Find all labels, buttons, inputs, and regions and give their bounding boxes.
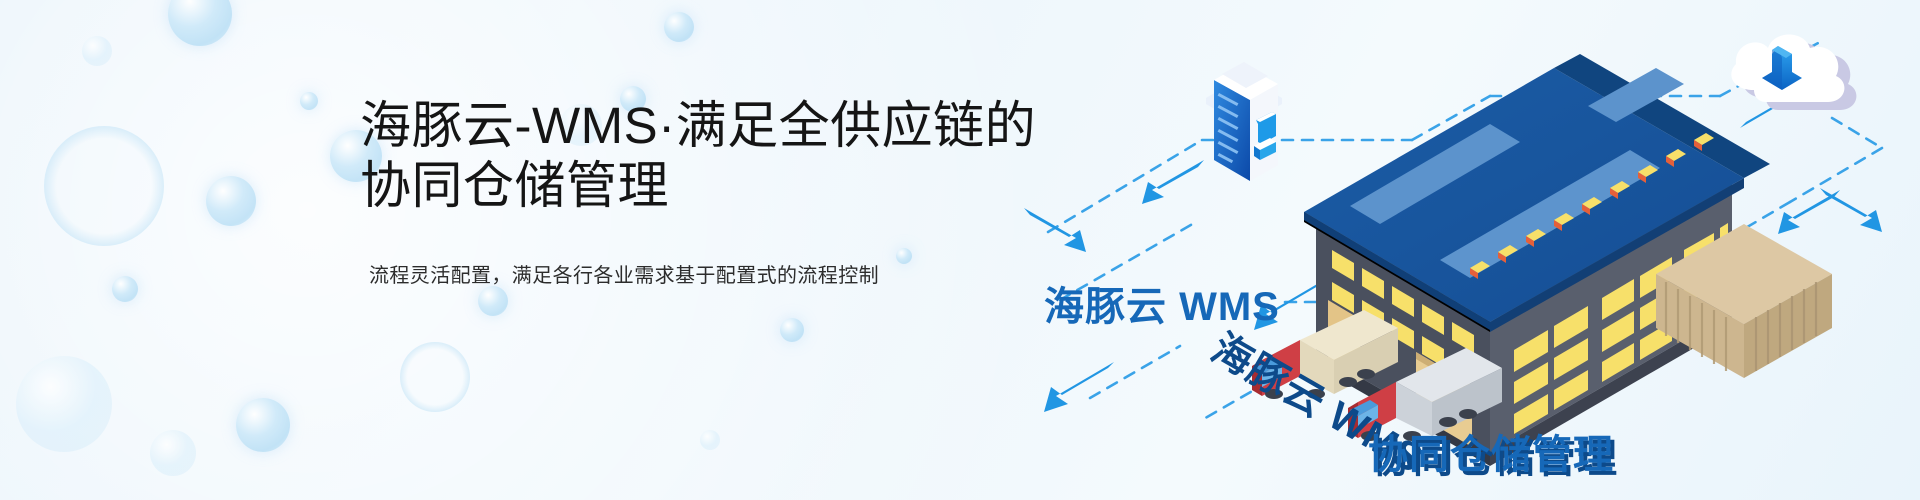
svg-text:海豚云 WMS: 海豚云 WMS xyxy=(1044,285,1280,329)
bubble-11 xyxy=(478,286,508,316)
bubble-1 xyxy=(82,36,112,66)
warehouse-illustration: 海豚云 WMS 海豚云 WMS 协同仓储管理 协同仓储管理 xyxy=(1020,0,1920,500)
bubble-10 xyxy=(664,12,694,42)
bubble-0 xyxy=(168,0,232,46)
bubble-3 xyxy=(206,176,256,226)
bubble-5 xyxy=(16,356,112,452)
page-subtitle: 流程灵活配置，满足各行各业需求基于配置式的流程控制 xyxy=(369,259,1120,288)
bubble-16 xyxy=(150,430,196,476)
page-title-line-2: 协同仓储管理 xyxy=(360,156,1120,216)
bubble-2 xyxy=(300,92,318,110)
iso-label-tagline: 协同仓储管理 协同仓储管理 xyxy=(1368,433,1618,481)
bubble-14 xyxy=(44,126,164,246)
server-rack-icon xyxy=(1206,62,1282,181)
bubble-15 xyxy=(400,342,470,412)
hero-copy: 海豚云-WMS·满足全供应链的 协同仓储管理 流程灵活配置，满足各行各业需求基于… xyxy=(360,96,1120,288)
page-title-line-1: 海豚云-WMS·满足全供应链的 xyxy=(360,96,1120,156)
cloud-download-icon xyxy=(1731,35,1856,111)
hero-banner: 海豚云-WMS·满足全供应链的 协同仓储管理 流程灵活配置，满足各行各业需求基于… xyxy=(0,0,1920,500)
bubble-4 xyxy=(112,276,138,302)
bubble-12 xyxy=(780,318,804,342)
svg-text:协同仓储管理: 协同仓储管理 xyxy=(1368,433,1614,477)
bubble-6 xyxy=(236,398,290,452)
bubble-17 xyxy=(700,430,720,450)
